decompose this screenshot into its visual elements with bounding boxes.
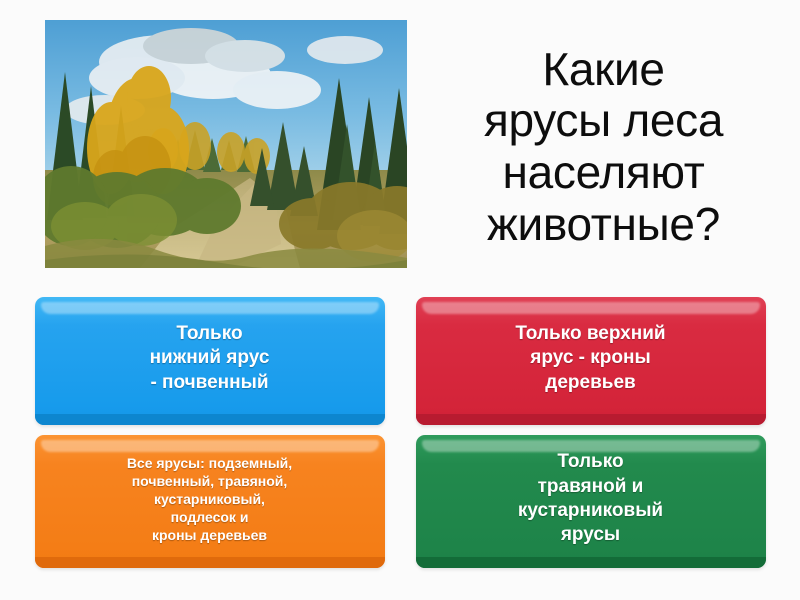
question-text: Какие ярусы леса населяют животные?	[484, 44, 723, 250]
answers-grid: Только нижний ярус - почвенный Только ве…	[0, 290, 800, 590]
answer-label-blue: Только нижний ярус - почвенный	[150, 322, 270, 395]
forest-illustration	[45, 20, 407, 268]
autumn-forest-photo	[45, 20, 407, 268]
question-area: Какие ярусы леса населяют животные?	[0, 0, 800, 288]
answer-label-orange: Все ярусы: подземный, почвенный, травяно…	[127, 454, 292, 545]
answer-option-blue[interactable]: Только нижний ярус - почвенный	[35, 297, 385, 425]
answer-label-red: Только верхний ярус - кроны деревьев	[515, 322, 665, 395]
answer-label-green: Только травяной и кустарниковый ярусы	[518, 450, 663, 547]
answer-option-orange[interactable]: Все ярусы: подземный, почвенный, травяно…	[35, 435, 385, 568]
answer-option-red[interactable]: Только верхний ярус - кроны деревьев	[416, 297, 766, 425]
question-media	[0, 0, 415, 288]
answer-option-green[interactable]: Только травяной и кустарниковый ярусы	[416, 435, 766, 568]
question-text-wrap: Какие ярусы леса населяют животные?	[415, 0, 800, 288]
